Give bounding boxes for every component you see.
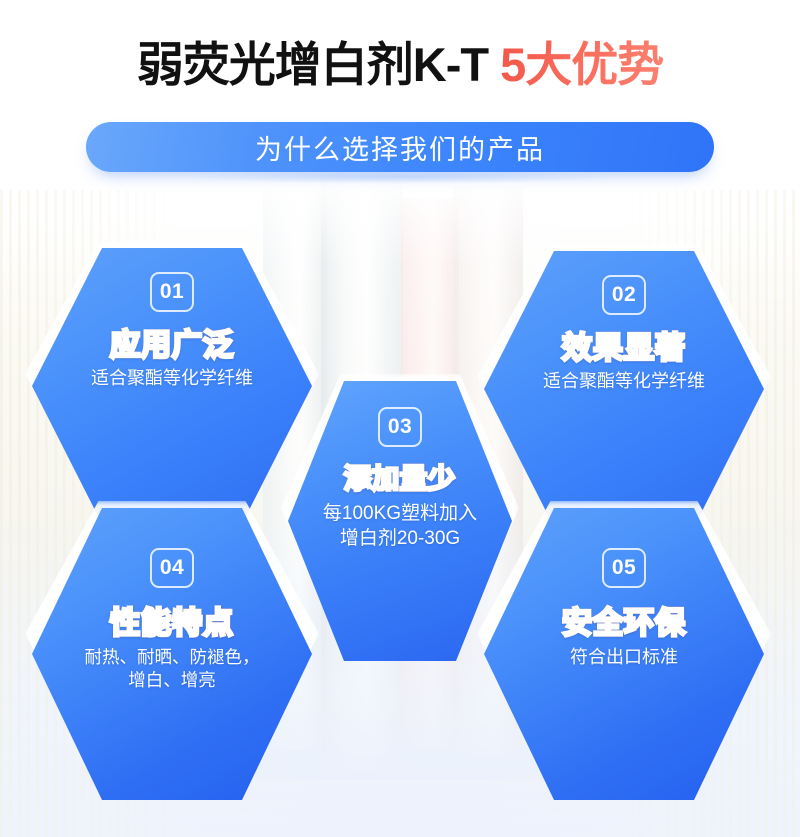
advantage-title-04: 性能特点 [110, 598, 234, 642]
advantage-subtitle-03-line1: 每100KG塑料加入 [323, 501, 477, 526]
advantage-subtitle-02: 适合聚酯等化学纤维 [543, 370, 705, 394]
badge-number-01: 01 [150, 272, 194, 312]
advantage-subtitle-01: 适合聚酯等化学纤维 [91, 367, 253, 391]
advantage-subtitle-05: 符合出口标准 [570, 646, 678, 670]
promo-banner-page: 弱荧光增白剂K-T5大优势 为什么选择我们的产品 01 应用广泛 适合聚酯等化学… [0, 0, 800, 837]
advantage-title-02: 效果显著 [562, 323, 686, 367]
badge-number-02: 02 [602, 275, 646, 315]
advantage-title-03: 添加量少 [344, 457, 456, 496]
advantage-title-01: 应用广泛 [110, 320, 234, 364]
advantage-subtitle-03-line2: 增白剂20-30G [340, 526, 460, 551]
badge-number-03: 03 [378, 407, 422, 447]
advantage-title-05: 安全环保 [562, 598, 686, 642]
badge-number-05: 05 [602, 548, 646, 588]
advantage-subtitle-04-line2: 增白、增亮 [128, 669, 216, 692]
badge-number-04: 04 [150, 548, 194, 588]
advantage-subtitle-04-line1: 耐热、耐晒、防褪色， [85, 646, 260, 669]
advantages-hex-grid: 01 应用广泛 适合聚酯等化学纤维 02 效果显著 适合聚酯等化学纤维 04 性… [0, 0, 800, 837]
